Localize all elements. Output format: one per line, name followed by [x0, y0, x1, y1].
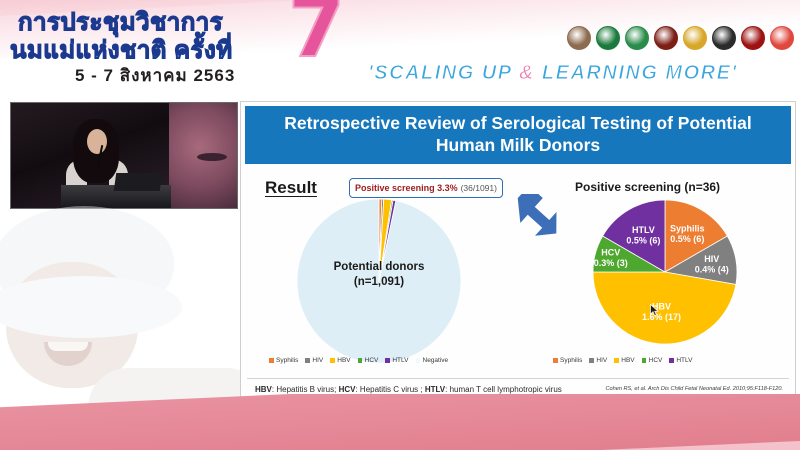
legend-swatch-hcv: [642, 358, 647, 363]
legend-label-hbv: HBV: [621, 357, 634, 364]
tagline-pre: 'SCALING UP: [368, 62, 519, 84]
legend-right-item-hcv: HCV: [642, 357, 663, 364]
legend-label-hiv: HIV: [312, 357, 323, 364]
legend-right-item-hiv: HIV: [589, 357, 607, 364]
presentation-slide: Retrospective Review of Serological Test…: [240, 101, 796, 405]
callout-text: Positive screening 3.3%: [355, 183, 458, 193]
legend-right-item-hbv: HBV: [614, 357, 634, 364]
logo-green-circle-1-icon: [596, 26, 620, 50]
legend-left-item-hbv: HBV: [330, 357, 350, 364]
legend-swatch-htlv: [385, 358, 390, 363]
speaker-face: [87, 129, 107, 154]
legend-label-hcv: HCV: [365, 357, 379, 364]
legend-label-htlv: HTLV: [392, 357, 408, 364]
result-heading: Result: [265, 178, 317, 198]
legend-label-hiv: HIV: [596, 357, 607, 364]
legend-left-item-hiv: HIV: [305, 357, 323, 364]
potential-donors-label: Potential donors (n=1,091): [289, 260, 469, 290]
legend-swatch-htlv: [669, 358, 674, 363]
citation-reference: Cohen RS, et al. Arch Dis Child Fetal Ne…: [605, 386, 783, 392]
positive-screening-chart-title: Positive screening (n=36): [575, 180, 720, 194]
abbrev-definition-2: : human T cell lymphotropic virus: [445, 385, 562, 394]
logo-red-crest-icon: [741, 26, 765, 50]
speaker-video-thumbnail[interactable]: [10, 102, 238, 209]
mouse-cursor-icon: [650, 304, 659, 317]
legend-left-item-negative: Negative: [416, 357, 449, 364]
pie-slice-label-syphilis: Syphilis: [670, 224, 705, 234]
legend-label-htlv: HTLV: [676, 357, 692, 364]
conference-edition-number: 7: [288, 0, 345, 70]
pie-slice-label-hbv: 1.6% (17): [642, 312, 681, 322]
abbrev-term-2: HTLV: [425, 385, 445, 394]
slide-title: Retrospective Review of Serological Test…: [245, 106, 791, 164]
abbreviation-definitions: HBV: Hepatitis B virus; HCV: Hepatitis C…: [255, 385, 562, 394]
blue-arrow-icon: [508, 194, 566, 246]
logo-green-circle-2-icon: [625, 26, 649, 50]
logo-dark-red-emblem-icon: [654, 26, 678, 50]
abbrev-definition-1: : Hepatitis C virus ;: [355, 385, 424, 394]
positive-screening-callout: Positive screening 3.3% (36/1091): [349, 178, 503, 198]
legend-label-negative: Negative: [423, 357, 449, 364]
legend-swatch-syphilis: [553, 358, 558, 363]
legend-right-item-syphilis: Syphilis: [553, 357, 582, 364]
child-hat-brim: [0, 276, 182, 338]
potential-donors-label-line1: Potential donors: [289, 260, 469, 275]
tagline-ampersand: &: [519, 62, 535, 84]
legend-swatch-hcv: [358, 358, 363, 363]
logo-thaihealth-icon: [770, 26, 794, 50]
child-teeth: [48, 342, 88, 351]
legend-label-syphilis: Syphilis: [276, 357, 298, 364]
laptop: [114, 173, 163, 191]
legend-label-syphilis: Syphilis: [560, 357, 582, 364]
legend-swatch-negative: [416, 358, 421, 363]
callout-fraction: (36/1091): [461, 183, 497, 193]
abbrev-term-0: HBV: [255, 385, 272, 394]
conference-tagline: 'SCALING UP & LEARNING MORE': [368, 62, 738, 85]
conference-header-banner: การประชุมวิชาการ นมแม่แห่งชาติ ครั้งที่ …: [0, 0, 800, 95]
footer-pink-diagonal-band: [0, 394, 800, 450]
pie-slice-label-syphilis: 0.5% (6): [670, 234, 704, 244]
logo-black-white-emblem-icon: [712, 26, 736, 50]
pie-slice-label-hcv: 0.3% (3): [594, 258, 628, 268]
pie-slice-label-htlv: HTLV: [632, 225, 655, 235]
legend-label-hbv: HBV: [337, 357, 350, 364]
pie-slice-label-htlv: 0.5% (6): [626, 235, 660, 245]
logo-royal-seal-icon: [567, 26, 591, 50]
abbrev-term-1: HCV: [339, 385, 356, 394]
legend-left-item-hcv: HCV: [358, 357, 379, 364]
legend-right-item-htlv: HTLV: [669, 357, 692, 364]
abbrev-definition-0: : Hepatitis B virus;: [272, 385, 339, 394]
conference-date-thai: 5 - 7 สิงหาคม 2563: [75, 62, 235, 89]
legend-left-item-htlv: HTLV: [385, 357, 408, 364]
legend-swatch-hbv: [330, 358, 335, 363]
sponsor-logo-row: [567, 26, 794, 50]
potential-donors-label-line2: (n=1,091): [289, 275, 469, 290]
legend-swatch-syphilis: [269, 358, 274, 363]
legend-swatch-hbv: [614, 358, 619, 363]
legend-positive-screening: SyphilisHIVHBVHCVHTLV: [553, 357, 693, 364]
tagline-post: LEARNING MORE': [535, 62, 738, 84]
footer-band-main: [0, 394, 800, 450]
pie-slice-label-hiv: HIV: [704, 254, 719, 264]
presentation-video-frame: การประชุมวิชาการ นมแม่แห่งชาติ ครั้งที่ …: [0, 0, 800, 450]
legend-swatch-hiv: [589, 358, 594, 363]
positive-screening-pie-chart: Syphilis0.5% (6)HIV0.4% (4)HBV1.6% (17)H…: [591, 198, 739, 346]
legend-label-hcv: HCV: [649, 357, 663, 364]
video-closeup-eye: [197, 153, 227, 161]
legend-left-item-syphilis: Syphilis: [269, 357, 298, 364]
pie-slice-label-hcv: HCV: [601, 248, 620, 258]
legend-swatch-hiv: [305, 358, 310, 363]
pie-slice-label-hiv: 0.4% (4): [695, 264, 729, 274]
legend-potential-donors: SyphilisHIVHBVHCVHTLVNegative: [269, 357, 448, 364]
logo-gold-blue-emblem-icon: [683, 26, 707, 50]
